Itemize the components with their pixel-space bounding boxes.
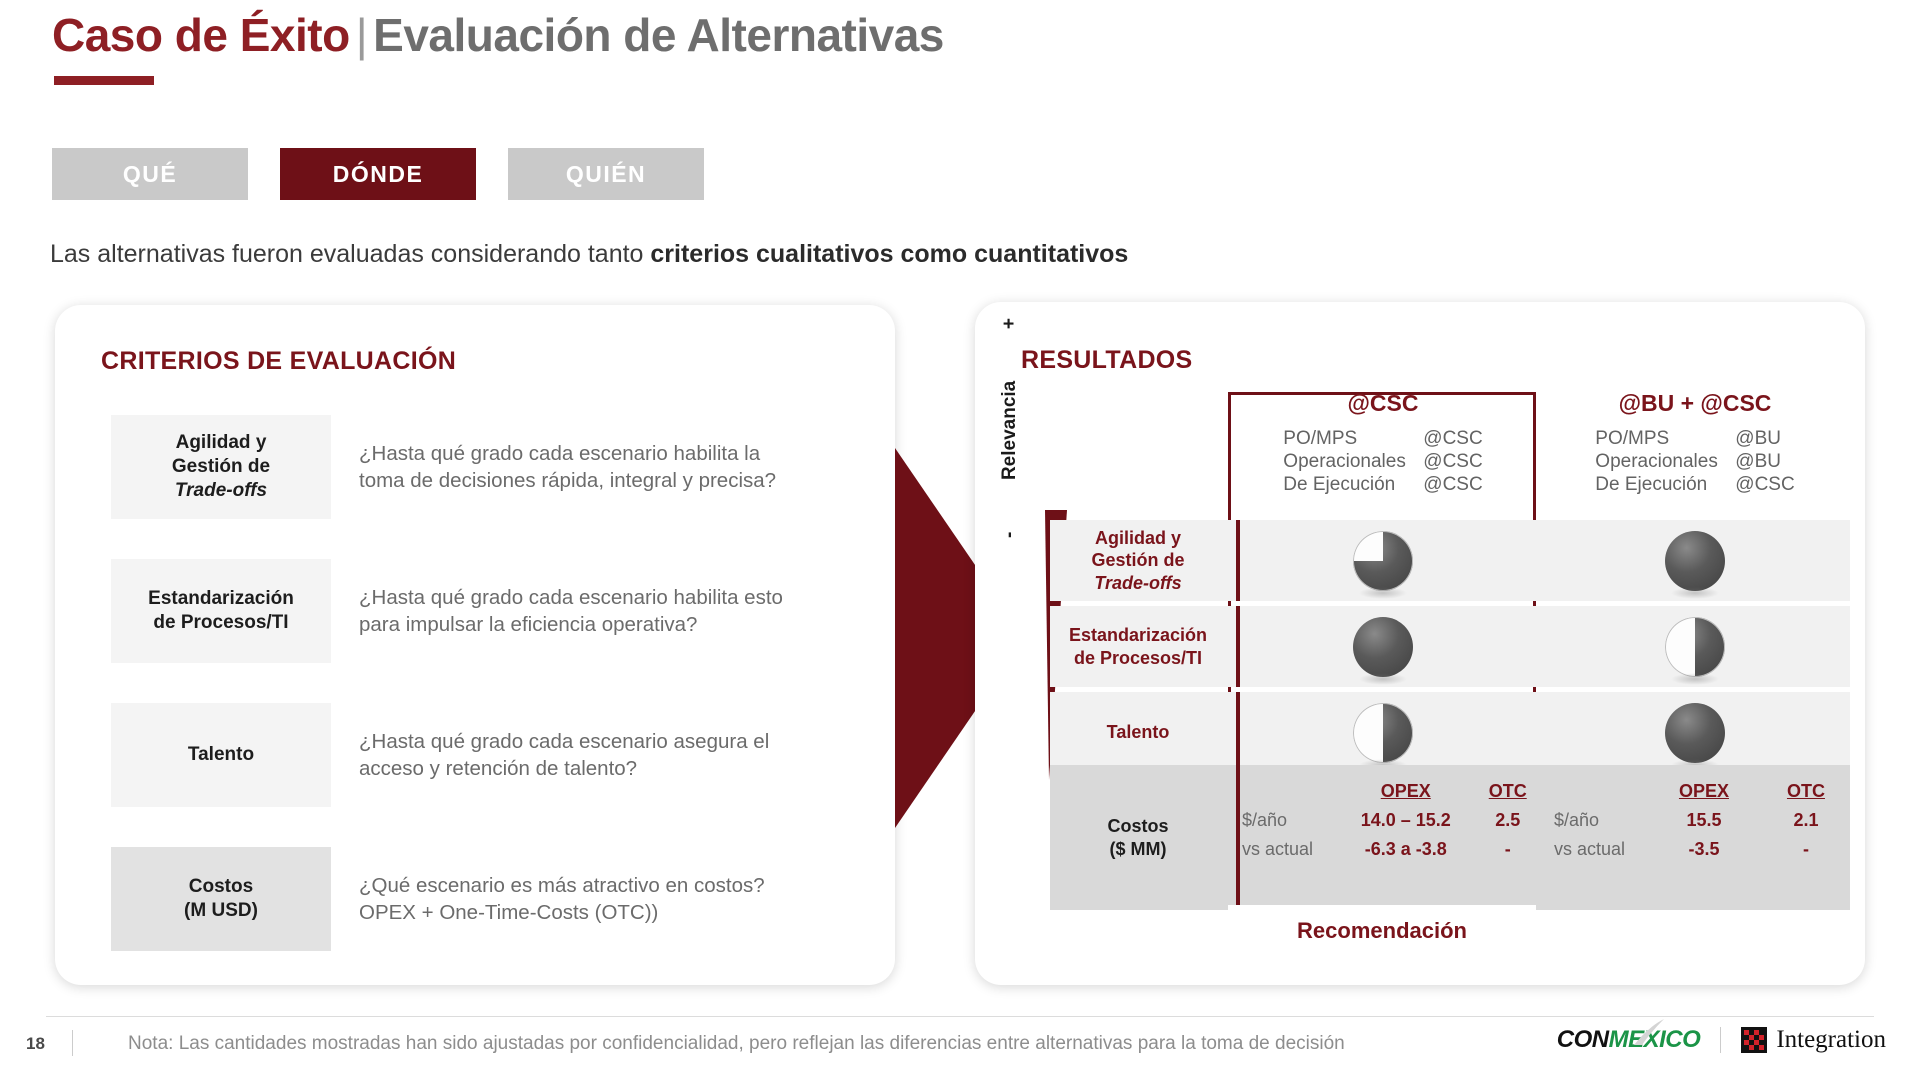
cost-rowlabel-peryear: $/año bbox=[1540, 806, 1646, 835]
integration-logo-text: Integration bbox=[1776, 1026, 1886, 1054]
criteria-panel: CRITERIOS DE EVALUACIÓN Agilidad y Gesti… bbox=[55, 305, 895, 985]
criterion-row-estandarizacion: Estandarización de Procesos/TI ¿Hasta qu… bbox=[111, 559, 799, 663]
criterion-description: ¿Hasta qué grado cada escenario habilita… bbox=[359, 559, 799, 663]
cost-row-label: Costos ($ MM) bbox=[1050, 765, 1226, 910]
mapping-location: @CSC bbox=[1423, 473, 1482, 496]
criterion-desc-line1: ¿Hasta qué grado cada escenario asegura … bbox=[359, 728, 769, 755]
cost-header-opex: OPEX bbox=[1646, 777, 1762, 806]
score-row-label-line2: Gestión de bbox=[1091, 549, 1184, 572]
cost-otc-peryear: 2.5 bbox=[1477, 806, 1538, 835]
score-row-talento: Talento bbox=[1050, 692, 1850, 773]
criterion-name-box: Agilidad y Gestión de Trade-offs bbox=[111, 415, 331, 519]
criterion-row-talento: Talento ¿Hasta qué grado cada escenario … bbox=[111, 703, 799, 807]
criterion-name-line1: Estandarización bbox=[148, 587, 294, 611]
harvey-ball-icon bbox=[1665, 703, 1725, 763]
criterion-desc-line2: acceso y retención de talento? bbox=[359, 755, 769, 782]
criterion-desc-line1: ¿Hasta qué grado cada escenario habilita… bbox=[359, 440, 776, 467]
mapping-process: PO/MPS bbox=[1283, 427, 1423, 450]
harvey-ball-cell bbox=[1228, 520, 1538, 601]
relevance-axis-label: - Relevancia + bbox=[999, 318, 1021, 538]
mapping-process: De Ejecución bbox=[1283, 473, 1423, 496]
page-number: 18 bbox=[26, 1034, 45, 1054]
harvey-ball-cell bbox=[1540, 606, 1850, 687]
criterion-desc-line2: para impulsar la eficiencia operativa? bbox=[359, 611, 783, 638]
cost-opex-vsactual: -3.5 bbox=[1646, 835, 1762, 864]
harvey-ball-cell bbox=[1540, 692, 1850, 773]
cost-header-opex: OPEX bbox=[1334, 777, 1477, 806]
mapping-location: @CSC bbox=[1423, 427, 1482, 450]
cost-block: Costos ($ MM) OPEX OTC $/año 14.0 – 15.2… bbox=[1050, 765, 1850, 910]
tab-que[interactable]: QUÉ bbox=[52, 148, 248, 200]
criterion-desc-line1: ¿Hasta qué grado cada escenario habilita… bbox=[359, 584, 783, 611]
criterion-name-line1: Costos bbox=[184, 875, 258, 899]
cost-rowlabel-vsactual: vs actual bbox=[1540, 835, 1646, 864]
harvey-ball-icon bbox=[1665, 617, 1725, 677]
criterion-name-line3: Trade-offs bbox=[175, 480, 267, 501]
cost-otc-peryear: 2.1 bbox=[1762, 806, 1850, 835]
subtitle: Las alternativas fueron evaluadas consid… bbox=[50, 240, 1128, 269]
column-header-csc: @CSC PO/MPS@CSC Operacionales@CSC De Eje… bbox=[1228, 390, 1538, 497]
checkerboard-icon bbox=[1741, 1027, 1767, 1053]
mapping-location: @CSC bbox=[1423, 450, 1482, 473]
title-secondary: Evaluación de Alternativas bbox=[373, 9, 944, 61]
cost-otc-vsactual: - bbox=[1477, 835, 1538, 864]
title-underline bbox=[54, 76, 154, 85]
score-row-label: Talento bbox=[1050, 692, 1226, 773]
criterion-name-line1: Talento bbox=[188, 743, 254, 767]
cost-otc-vsactual: - bbox=[1762, 835, 1850, 864]
column-name: @CSC bbox=[1228, 390, 1538, 417]
criterion-description: ¿Qué escenario es más atractivo en costo… bbox=[359, 847, 799, 951]
mapping-process: PO/MPS bbox=[1595, 427, 1735, 450]
logo-divider bbox=[1720, 1027, 1721, 1053]
score-row-label: Estandarización de Procesos/TI bbox=[1050, 606, 1226, 687]
score-row-label-line2: de Procesos/TI bbox=[1069, 647, 1207, 670]
subtitle-plain: Las alternativas fueron evaluadas consid… bbox=[50, 240, 650, 268]
column-mappings: PO/MPS@BU Operacionales@BU De Ejecución@… bbox=[1595, 427, 1794, 497]
column-mappings: PO/MPS@CSC Operacionales@CSC De Ejecució… bbox=[1283, 427, 1482, 497]
criterion-description: ¿Hasta qué grado cada escenario habilita… bbox=[359, 415, 799, 519]
integration-logo: Integration bbox=[1741, 1026, 1886, 1054]
cost-opex-peryear: 14.0 – 15.2 bbox=[1334, 806, 1477, 835]
mapping-location: @BU bbox=[1735, 427, 1781, 450]
harvey-ball-cell bbox=[1228, 606, 1538, 687]
criterion-desc-line1: ¿Qué escenario es más atractivo en costo… bbox=[359, 872, 765, 899]
cost-rowlabel-peryear: $/año bbox=[1228, 806, 1334, 835]
cost-column-csc: OPEX OTC $/año 14.0 – 15.2 2.5 vs actual… bbox=[1228, 765, 1538, 910]
tab-bar: QUÉ DÓNDE QUIÉN bbox=[52, 148, 704, 200]
criterion-name-box: Talento bbox=[111, 703, 331, 807]
conmexico-logo: CONMEXICO bbox=[1557, 1026, 1701, 1054]
score-row-label: Agilidad y Gestión de Trade-offs bbox=[1050, 520, 1226, 601]
harvey-ball-cell bbox=[1228, 692, 1538, 773]
score-row-label-line3: Trade-offs bbox=[1094, 573, 1181, 593]
relevance-high: + bbox=[999, 318, 1021, 329]
cost-header-otc: OTC bbox=[1762, 777, 1850, 806]
tab-donde[interactable]: DÓNDE bbox=[280, 148, 476, 200]
relevance-axis: - Relevancia + bbox=[1003, 520, 1043, 770]
title-separator: | bbox=[350, 9, 373, 61]
score-row-label-line1: Talento bbox=[1107, 721, 1170, 744]
score-row-agilidad: Agilidad y Gestión de Trade-offs bbox=[1050, 520, 1850, 601]
title-primary: Caso de Éxito bbox=[52, 9, 350, 61]
cost-rowlabel-vsactual: vs actual bbox=[1228, 835, 1334, 864]
relevance-title: Relevancia bbox=[999, 381, 1021, 480]
score-row-label-line1: Agilidad y bbox=[1091, 527, 1184, 550]
criterion-row-agilidad: Agilidad y Gestión de Trade-offs ¿Hasta … bbox=[111, 415, 799, 519]
criterion-name-line2: (M USD) bbox=[184, 899, 258, 923]
criterion-name-line2: Gestión de bbox=[172, 455, 270, 479]
criterion-description: ¿Hasta qué grado cada escenario asegura … bbox=[359, 703, 799, 807]
cost-label-line2: ($ MM) bbox=[1107, 838, 1168, 861]
harvey-ball-icon bbox=[1353, 703, 1413, 763]
cost-header-otc: OTC bbox=[1477, 777, 1538, 806]
criterion-row-costos: Costos (M USD) ¿Qué escenario es más atr… bbox=[111, 847, 799, 951]
mapping-location: @BU bbox=[1735, 450, 1781, 473]
harvey-ball-icon bbox=[1353, 617, 1413, 677]
mapping-process: Operacionales bbox=[1283, 450, 1423, 473]
results-panel-title: RESULTADOS bbox=[1021, 346, 1193, 375]
mapping-process: De Ejecución bbox=[1595, 473, 1735, 496]
cost-column-bu-csc: OPEX OTC $/año 15.5 2.1 vs actual -3.5 - bbox=[1540, 765, 1850, 910]
relevance-low: - bbox=[999, 532, 1021, 538]
criterion-name-line2: de Procesos/TI bbox=[148, 611, 294, 635]
criterion-name-box: Costos (M USD) bbox=[111, 847, 331, 951]
criterion-name-box: Estandarización de Procesos/TI bbox=[111, 559, 331, 663]
mapping-process: Operacionales bbox=[1595, 450, 1735, 473]
footer-separator bbox=[72, 1030, 73, 1056]
mapping-location: @CSC bbox=[1735, 473, 1794, 496]
criterion-desc-line2: toma de decisiones rápida, integral y pr… bbox=[359, 467, 776, 494]
footer-divider bbox=[46, 1016, 1874, 1017]
harvey-ball-cell bbox=[1540, 520, 1850, 601]
recommendation-label: Recomendación bbox=[1228, 905, 1536, 957]
column-header-bu-csc: @BU + @CSC PO/MPS@BU Operacionales@BU De… bbox=[1540, 390, 1850, 497]
footnote: Nota: Las cantidades mostradas han sido … bbox=[128, 1033, 1345, 1055]
slide: Caso de Éxito|Evaluación de Alternativas… bbox=[0, 0, 1920, 1080]
cost-opex-peryear: 15.5 bbox=[1646, 806, 1762, 835]
logo-bar: CONMEXICO Integration bbox=[1557, 1026, 1886, 1054]
cost-opex-vsactual: -6.3 a -3.8 bbox=[1334, 835, 1477, 864]
cost-label-line1: Costos bbox=[1107, 815, 1168, 838]
results-column-headers: @CSC PO/MPS@CSC Operacionales@CSC De Eje… bbox=[1050, 390, 1850, 520]
score-row-estandarizacion: Estandarización de Procesos/TI bbox=[1050, 606, 1850, 687]
page-title: Caso de Éxito|Evaluación de Alternativas bbox=[52, 8, 944, 62]
harvey-ball-icon bbox=[1665, 531, 1725, 591]
criterion-name-line1: Agilidad y bbox=[172, 431, 270, 455]
conmexico-logo-part1: CON bbox=[1557, 1026, 1609, 1053]
criteria-panel-title: CRITERIOS DE EVALUACIÓN bbox=[101, 347, 456, 376]
swoosh-icon bbox=[1630, 1019, 1666, 1045]
subtitle-bold: criterios cualitativos como cuantitativo… bbox=[650, 240, 1128, 268]
criterion-desc-line2: OPEX + One-Time-Costs (OTC)) bbox=[359, 899, 765, 926]
score-row-label-line1: Estandarización bbox=[1069, 624, 1207, 647]
tab-quien[interactable]: QUIÉN bbox=[508, 148, 704, 200]
harvey-ball-icon bbox=[1353, 531, 1413, 591]
column-name: @BU + @CSC bbox=[1540, 390, 1850, 417]
